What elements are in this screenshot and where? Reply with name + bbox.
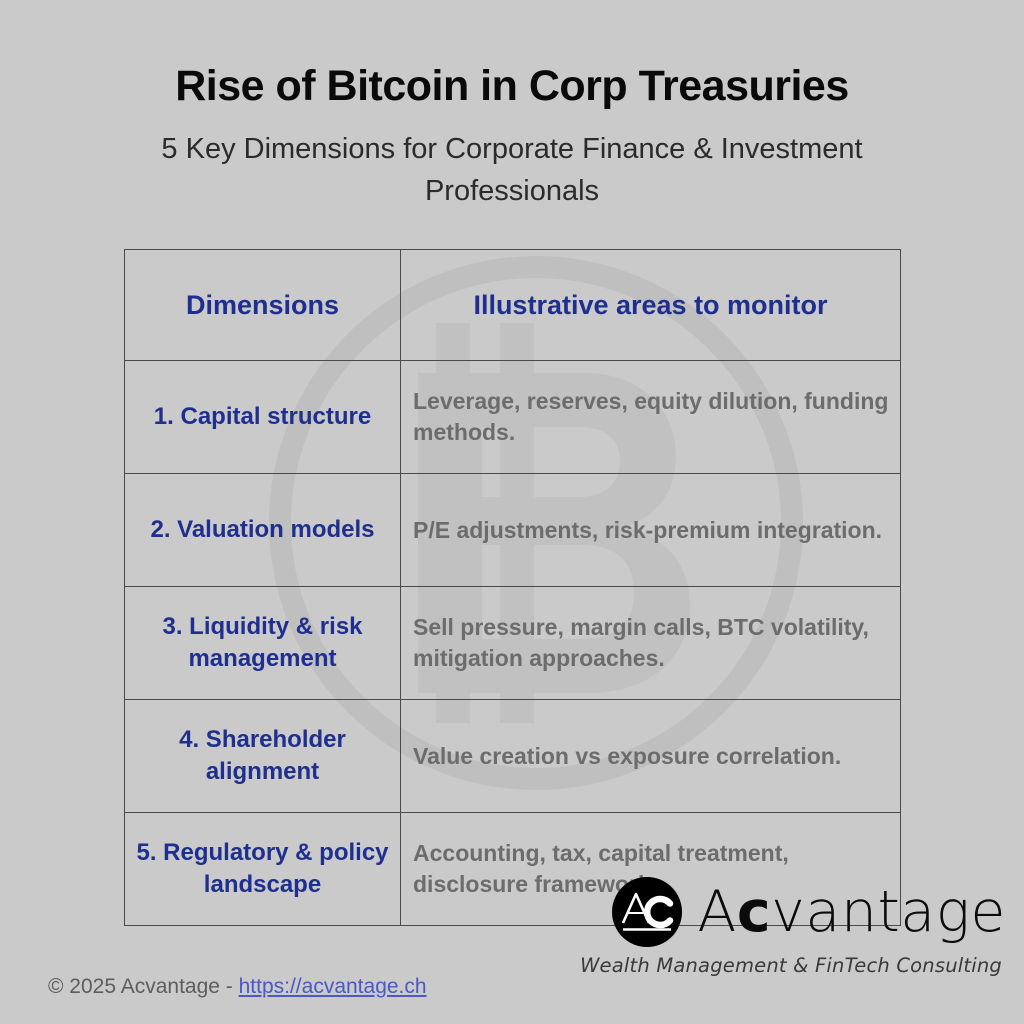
table-row: 2. Valuation models P/E adjustments, ris…: [125, 474, 901, 587]
cell-areas: Sell pressure, margin calls, BTC volatil…: [401, 587, 901, 700]
poster-canvas: Rise of Bitcoin in Corp Treasuries 5 Key…: [0, 0, 1024, 1024]
table-row: 3. Liquidity & risk management Sell pres…: [125, 587, 901, 700]
cell-dimension: 4. Shareholder alignment: [125, 700, 401, 813]
table-body: 1. Capital structure Leverage, reserves,…: [125, 361, 901, 926]
column-header-dimensions: Dimensions: [125, 250, 401, 361]
table-header: Dimensions Illustrative areas to monitor: [125, 250, 901, 361]
dimensions-table: Dimensions Illustrative areas to monitor…: [124, 249, 901, 926]
logo-wordmark-suffix: vantage: [771, 879, 1006, 945]
logo-tagline: Wealth Management & FinTech Consulting: [580, 954, 1006, 977]
table-row: 1. Capital structure Leverage, reserves,…: [125, 361, 901, 474]
poster-header: Rise of Bitcoin in Corp Treasuries 5 Key…: [0, 0, 1024, 212]
table-row: 4. Shareholder alignment Value creation …: [125, 700, 901, 813]
cell-areas: P/E adjustments, risk-premium integratio…: [401, 474, 901, 587]
dimensions-table-container: Dimensions Illustrative areas to monitor…: [124, 249, 900, 926]
cell-areas: Leverage, reserves, equity dilution, fun…: [401, 361, 901, 474]
footer-copyright: © 2025 Acvantage -: [48, 975, 239, 998]
footer-website-link[interactable]: https://acvantage.ch: [239, 975, 427, 998]
logo-wordmark: Acvantage: [697, 884, 1006, 941]
cell-dimension: 3. Liquidity & risk management: [125, 587, 401, 700]
cell-dimension: 1. Capital structure: [125, 361, 401, 474]
brand-logo: Acvantage Wealth Management & FinTech Co…: [580, 876, 1006, 977]
logo-row: Acvantage: [580, 876, 1006, 948]
cell-dimension: 2. Valuation models: [125, 474, 401, 587]
logo-wordmark-prefix: A: [697, 879, 737, 945]
logo-wordmark-accent: c: [737, 879, 771, 945]
cell-dimension: 5. Regulatory & policy landscape: [125, 813, 401, 926]
page-title: Rise of Bitcoin in Corp Treasuries: [0, 62, 1024, 111]
column-header-areas: Illustrative areas to monitor: [401, 250, 901, 361]
page-subtitle: 5 Key Dimensions for Corporate Finance &…: [122, 129, 902, 211]
table-header-row: Dimensions Illustrative areas to monitor: [125, 250, 901, 361]
acvantage-monogram-icon: [611, 876, 683, 948]
footer: © 2025 Acvantage - https://acvantage.ch: [48, 975, 427, 999]
cell-areas: Value creation vs exposure correlation.: [401, 700, 901, 813]
